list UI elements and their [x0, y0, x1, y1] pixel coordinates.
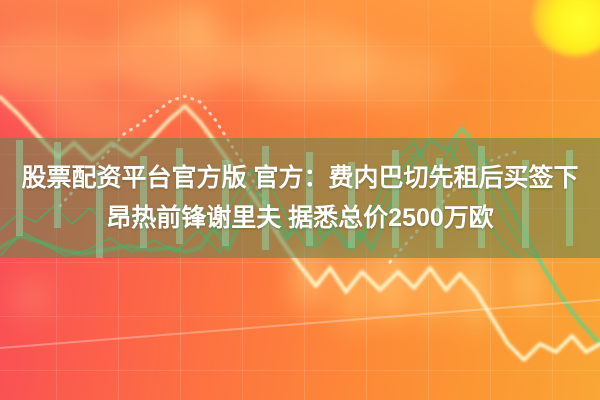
- headline-line-1: 股票配资平台官方版 官方：费内巴切先租后买签下: [22, 160, 579, 196]
- headline-line-2: 昂热前锋谢里夫 据悉总价2500万欧: [106, 200, 494, 236]
- news-banner: 股票配资平台官方版 官方：费内巴切先租后买签下 昂热前锋谢里夫 据悉总价2500…: [0, 0, 600, 400]
- headline: 股票配资平台官方版 官方：费内巴切先租后买签下 昂热前锋谢里夫 据悉总价2500…: [0, 138, 600, 258]
